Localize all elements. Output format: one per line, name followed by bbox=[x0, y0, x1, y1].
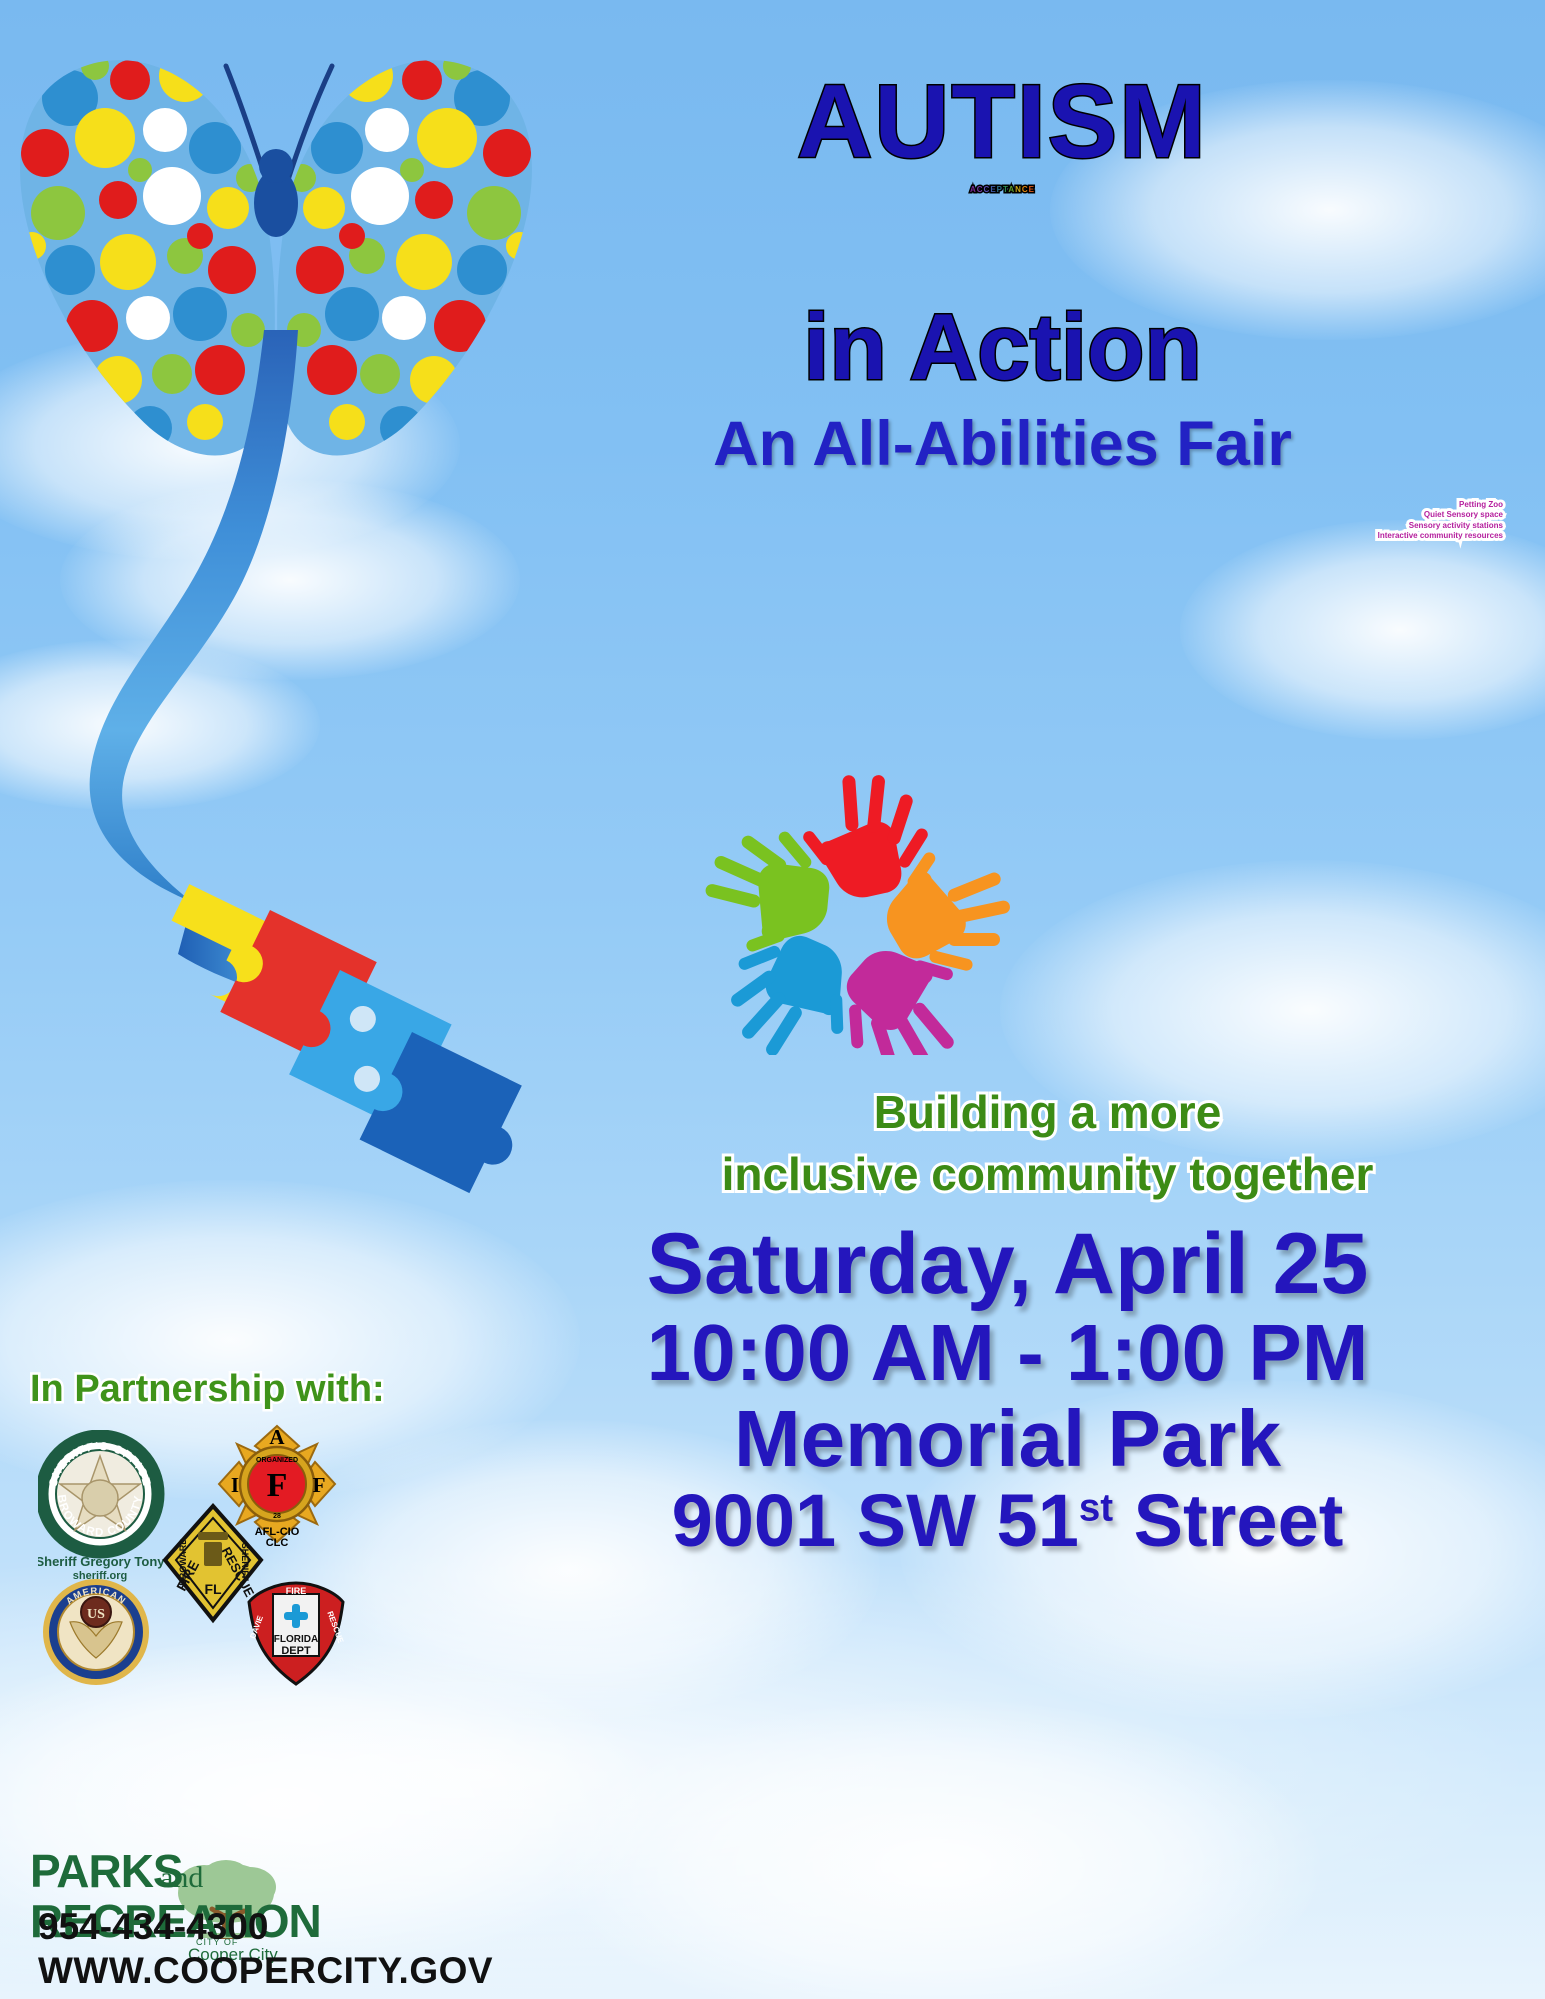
and-word: and bbox=[160, 1861, 203, 1894]
event-details-block: Saturday, April 25 10:00 AM - 1:00 PM Me… bbox=[400, 1218, 1545, 1560]
iaff-letter-a: A bbox=[269, 1425, 285, 1449]
acceptance-letter-1: C bbox=[977, 185, 984, 194]
sheriff-text: SHERIFF bbox=[240, 1543, 250, 1582]
event-date: Saturday, April 25 bbox=[470, 1218, 1545, 1310]
iaff-letter-f: F bbox=[313, 1473, 326, 1497]
iaff-letter-i: I bbox=[231, 1473, 239, 1497]
activity-item: Interactive community resources bbox=[400, 531, 1503, 541]
broward-text: BROWARD bbox=[178, 1538, 188, 1586]
partnership-section: In Partnership with: SHERIFF'S OFFICE bbox=[30, 1370, 450, 1652]
poster-canvas: AUTISM ACCEPTANCE in Action An All-Abili… bbox=[0, 0, 1545, 1999]
activities-list: Petting Zoo Quiet Sensory space Sensory … bbox=[400, 500, 1535, 542]
davie-dept-text: DEPT bbox=[281, 1645, 311, 1657]
event-venue: Memorial Park bbox=[470, 1396, 1545, 1482]
event-address-ordinal-suffix: st bbox=[1079, 1487, 1113, 1530]
page-title-in-action: in Action bbox=[470, 300, 1535, 394]
event-address-main: 9001 SW 51 bbox=[672, 1479, 1079, 1562]
partnership-heading: In Partnership with: bbox=[30, 1370, 450, 1408]
acceptance-letter-8: C bbox=[1022, 185, 1029, 194]
acceptance-letter-9: E bbox=[1029, 185, 1035, 194]
tagline-line-1: Building a more bbox=[560, 1082, 1535, 1144]
contact-website[interactable]: WWW.COOPERCITY.GOV bbox=[38, 1949, 498, 1993]
partner-logo-row: SHERIFF'S OFFICE BROWARD COUNTY Sheriff … bbox=[30, 1422, 430, 1652]
page-subtitle-all-abilities-fair: An All-Abilities Fair bbox=[470, 413, 1535, 476]
davie-fire-rescue-logo: FIRE FLORIDA DEPT DAVIE RESCUE bbox=[243, 1580, 349, 1688]
iaff-clc-text: CLC bbox=[266, 1537, 289, 1548]
davie-florida-text: FLORIDA bbox=[274, 1634, 318, 1645]
contact-block: 954-434-4300 WWW.COOPERCITY.GOV bbox=[38, 1905, 498, 1992]
iaff-center-letter: F bbox=[267, 1467, 288, 1504]
american-legion-logo: US AMERICAN LEGION bbox=[40, 1578, 152, 1686]
acceptance-letter-0: A bbox=[970, 185, 977, 194]
contact-phone[interactable]: 954-434-4300 bbox=[38, 1905, 498, 1949]
page-title-autism: AUTISM bbox=[470, 70, 1535, 174]
activity-item: Petting Zoo bbox=[400, 500, 1503, 510]
event-address-tail: Street bbox=[1113, 1479, 1343, 1562]
page-title-acceptance: ACCEPTANCE bbox=[470, 186, 1535, 194]
activity-item: Sensory activity stations bbox=[400, 521, 1503, 531]
broward-sheriff-office-logo: SHERIFF'S OFFICE BROWARD COUNTY Sheriff … bbox=[38, 1430, 170, 1582]
tagline-line-2: inclusive community together bbox=[560, 1144, 1535, 1206]
event-address: 9001 SW 51st Street bbox=[470, 1481, 1545, 1560]
activity-item: Quiet Sensory space bbox=[400, 510, 1503, 520]
tagline-block: Building a more inclusive community toge… bbox=[400, 1082, 1535, 1205]
sheriff-caption-name: Sheriff Gregory Tony bbox=[38, 1554, 165, 1569]
cloud-decoration bbox=[560, 1700, 1320, 1999]
iaff-number: 28 bbox=[273, 1513, 281, 1520]
fl-text: FL bbox=[204, 1581, 222, 1597]
handprint-circle-icon bbox=[690, 755, 1020, 1055]
legion-us-text: US bbox=[87, 1607, 105, 1622]
iaff-organized-text: ORGANIZED bbox=[256, 1457, 298, 1464]
cloud-decoration bbox=[1180, 520, 1545, 740]
event-time: 10:00 AM - 1:00 PM bbox=[470, 1310, 1545, 1396]
acceptance-letter-7: N bbox=[1015, 185, 1022, 194]
davie-fire-text: FIRE bbox=[286, 1586, 307, 1596]
